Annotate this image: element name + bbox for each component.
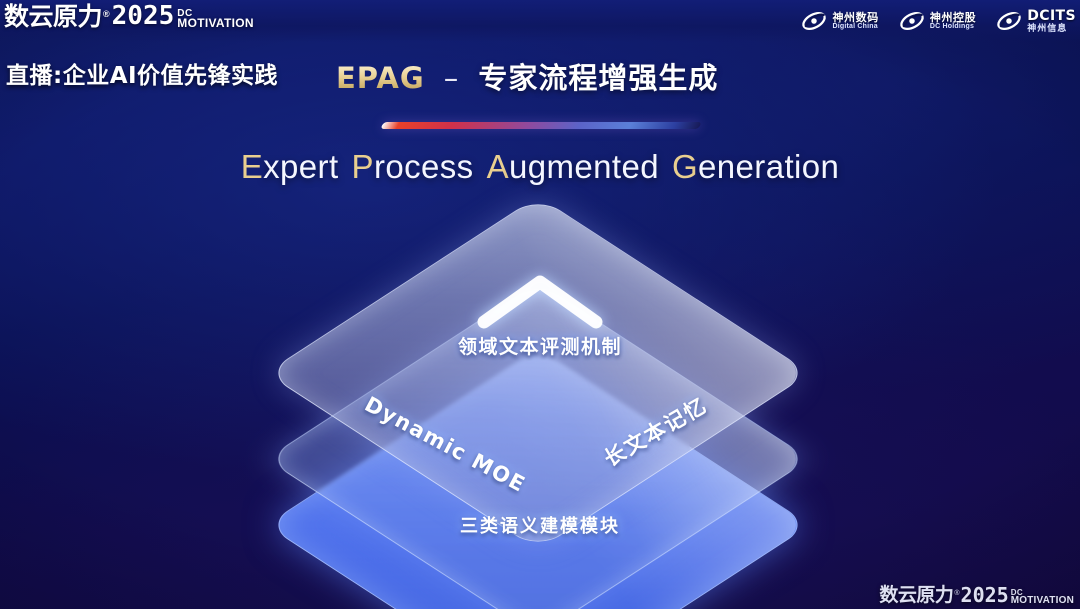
partner-logo-digital-china: 神州数码 Digital China <box>801 9 878 33</box>
partner-name-en: DC Holdings <box>930 23 976 30</box>
gradient-divider <box>380 122 701 129</box>
partner-logo-dc-holdings: 神州控股 DC Holdings <box>899 9 976 33</box>
brand-dc-line2: MOTIVATION <box>177 18 254 29</box>
watermark-name-cn: 数云原力 <box>879 586 953 605</box>
partner-logo-group: 神州数码 Digital China 神州控股 DC Holdings <box>801 4 1076 38</box>
partner-name-en: DCITS <box>1027 9 1076 23</box>
footer-watermark: 数云原力 ® 2025 DC MOTIVATION <box>879 585 1074 605</box>
stack-layer-top[interactable] <box>379 214 697 532</box>
watermark-dc-line2: MOTIVATION <box>1011 596 1074 605</box>
headline-acronym: EPAG <box>336 61 425 95</box>
watermark-dc-motivation: DC MOTIVATION <box>1011 589 1074 605</box>
partner-logo-text: 神州数码 Digital China <box>832 12 878 30</box>
brand-logo: 数云原力 ® 2025 DC MOTIVATION <box>4 3 254 29</box>
partner-logo-text: 神州控股 DC Holdings <box>930 12 976 30</box>
slide-subtitle: ExpertProcessAugmentedGeneration <box>0 148 1080 186</box>
partner-name-en: Digital China <box>832 23 878 30</box>
live-stream-title: 直播:企业AI价值先锋实践 <box>6 56 278 90</box>
presentation-slide: 数云原力 ® 2025 DC MOTIVATION 直播:企业AI价值先锋实践 … <box>0 0 1080 609</box>
partner-name-cn: 神州信息 <box>1027 24 1076 33</box>
partner-logo-dcits: DCITS 神州信息 <box>996 9 1076 33</box>
swoosh-logo-icon <box>899 9 925 33</box>
headline-title-cn: 专家流程增强生成 <box>478 61 718 95</box>
subtitle-word-generation: Generation <box>672 148 839 185</box>
headline-dash: – <box>444 61 460 95</box>
registered-mark-icon: ® <box>103 10 110 19</box>
swoosh-logo-icon <box>996 9 1022 33</box>
stack-label-top: 领域文本评测机制 <box>0 332 1080 359</box>
watermark-year: 2025 <box>961 585 1009 605</box>
brand-year: 2025 <box>112 3 175 29</box>
chevron-up-icon <box>476 272 604 328</box>
slide-headline: EPAG – 专家流程增强生成 <box>336 55 718 97</box>
partner-name-cn: 神州控股 <box>930 12 976 23</box>
subtitle-word-expert: Expert <box>241 148 339 185</box>
brand-dc-motivation: DC MOTIVATION <box>177 9 254 29</box>
partner-name-cn: 神州数码 <box>832 12 878 23</box>
swoosh-logo-icon <box>801 9 827 33</box>
partner-logo-text: DCITS 神州信息 <box>1027 9 1076 32</box>
registered-mark-icon: ® <box>954 590 959 597</box>
stack-label-bottom: 三类语义建模模块 <box>0 512 1080 538</box>
subtitle-word-augmented: Augmented <box>487 148 659 185</box>
subtitle-word-process: Process <box>352 148 474 185</box>
brand-name-cn: 数云原力 <box>4 4 102 29</box>
